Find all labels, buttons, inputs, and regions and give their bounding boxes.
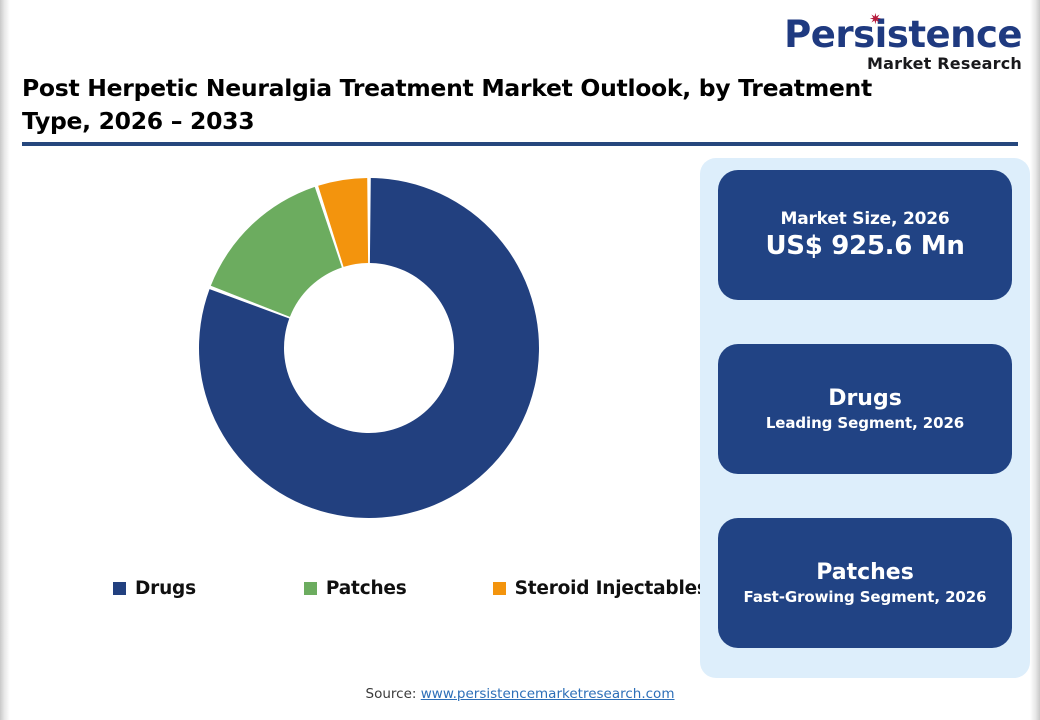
- legend-label-steroid-injectables: Steroid Injectables: [515, 578, 708, 599]
- source-footer: Source: www.persistencemarketresearch.co…: [0, 686, 1040, 702]
- stat-card-leading-segment: Drugs Leading Segment, 2026: [718, 344, 1012, 474]
- source-link[interactable]: www.persistencemarketresearch.com: [421, 686, 675, 702]
- legend-label-patches: Patches: [326, 578, 407, 599]
- stat-card-leading-segment-value: Drugs: [828, 385, 902, 413]
- brand-tagline: Market Research: [784, 56, 1022, 72]
- brand-star-icon: ✷: [869, 14, 880, 25]
- frame-edge-right: [1030, 0, 1040, 720]
- stat-card-fast-growing-segment: Patches Fast-Growing Segment, 2026: [718, 518, 1012, 648]
- chart-legend: Drugs Patches Steroid Injectables: [95, 578, 665, 599]
- stats-panel: Market Size, 2026 US$ 925.6 Mn Drugs Lea…: [700, 158, 1030, 678]
- title-divider: [22, 142, 1018, 146]
- page-title: Post Herpetic Neuralgia Treatment Market…: [22, 72, 927, 138]
- legend-swatch-drugs: [113, 582, 126, 595]
- donut-chart-svg: [199, 178, 539, 518]
- chart-area: Drugs Patches Steroid Injectables: [20, 158, 680, 628]
- stat-card-fast-growing-segment-label: Fast-Growing Segment, 2026: [744, 587, 987, 607]
- source-prefix: Source:: [366, 686, 421, 702]
- legend-item-drugs[interactable]: Drugs: [113, 578, 196, 599]
- stat-card-market-size-value: US$ 925.6 Mn: [765, 230, 964, 262]
- legend-swatch-steroid-injectables: [493, 582, 506, 595]
- brand-logo: Persistence ✷ Market Research: [784, 16, 1022, 72]
- infographic-root: Persistence ✷ Market Research Post Herpe…: [0, 0, 1040, 720]
- page-title-text: Post Herpetic Neuralgia Treatment Market…: [22, 72, 927, 138]
- stat-card-fast-growing-segment-value: Patches: [816, 559, 914, 587]
- legend-swatch-patches: [304, 582, 317, 595]
- donut-slice-group: [199, 178, 539, 518]
- legend-item-steroid-injectables[interactable]: Steroid Injectables: [493, 578, 708, 599]
- legend-label-drugs: Drugs: [135, 578, 196, 599]
- frame-edge-left: [0, 0, 10, 720]
- stat-card-market-size: Market Size, 2026 US$ 925.6 Mn: [718, 170, 1012, 300]
- brand-name-text: Persistence: [784, 13, 1022, 56]
- stat-card-leading-segment-label: Leading Segment, 2026: [766, 413, 964, 433]
- legend-item-patches[interactable]: Patches: [304, 578, 407, 599]
- stat-card-market-size-label: Market Size, 2026: [781, 208, 950, 230]
- brand-name: Persistence ✷: [784, 16, 1022, 53]
- donut-chart: [199, 178, 539, 518]
